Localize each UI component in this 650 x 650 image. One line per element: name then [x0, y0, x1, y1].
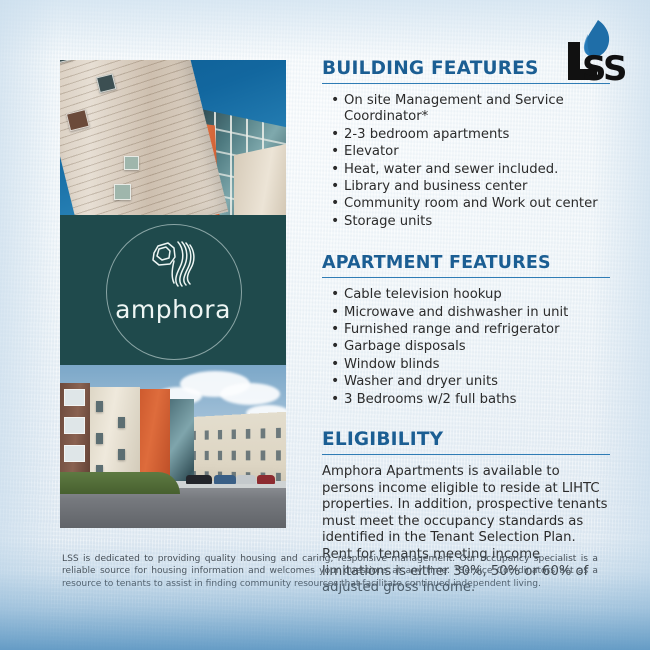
list-item: Garbage disposals [344, 339, 610, 355]
list-item: Furnished range and refrigerator [344, 322, 610, 338]
list-item: Microwave and dishwasher in unit [344, 305, 610, 321]
flyer-page: SS [0, 0, 650, 650]
parked-car [236, 475, 256, 484]
content-column: BUILDING FEATURES On site Management and… [322, 58, 610, 597]
list-item: 2-3 bedroom apartments [344, 127, 610, 143]
section-spacer [322, 231, 610, 253]
amphora-logo-panel: amphora [60, 215, 286, 365]
media-column: amphora [60, 60, 286, 528]
list-item: Heat, water and sewer included. [344, 162, 610, 178]
parked-car [186, 475, 212, 484]
photo-building-exterior-low-angle [60, 60, 286, 215]
section-spacer [322, 409, 610, 429]
list-item: Cable television hookup [344, 287, 610, 303]
lawn [60, 472, 180, 494]
photo-building-exterior-street-view [60, 365, 286, 528]
list-apartment-features: Cable television hookup Microwave and di… [322, 287, 610, 408]
section-title-apartment-features: APARTMENT FEATURES [322, 253, 610, 278]
amphora-vessel-icon [144, 237, 206, 293]
parked-car [257, 475, 275, 484]
list-item: Library and business center [344, 179, 610, 195]
list-item: Elevator [344, 144, 610, 160]
list-item: 3 Bedrooms w/2 full baths [344, 392, 610, 408]
list-item: Window blinds [344, 357, 610, 373]
footer-disclaimer: LSS is dedicated to providing quality ho… [62, 553, 598, 590]
amphora-wordmark: amphora [60, 295, 286, 324]
list-item: On site Management and Service Coordinat… [344, 93, 610, 126]
list-building-features: On site Management and Service Coordinat… [322, 93, 610, 230]
cream-wall-right [234, 143, 286, 215]
list-item: Washer and dryer units [344, 374, 610, 390]
list-item: Community room and Work out center [344, 196, 610, 212]
section-title-eligibility: ELIGIBILITY [322, 429, 610, 455]
parked-car [214, 475, 236, 484]
list-item: Storage units [344, 214, 610, 230]
section-title-building-features: BUILDING FEATURES [322, 58, 610, 84]
left-edge-glow [0, 0, 58, 650]
